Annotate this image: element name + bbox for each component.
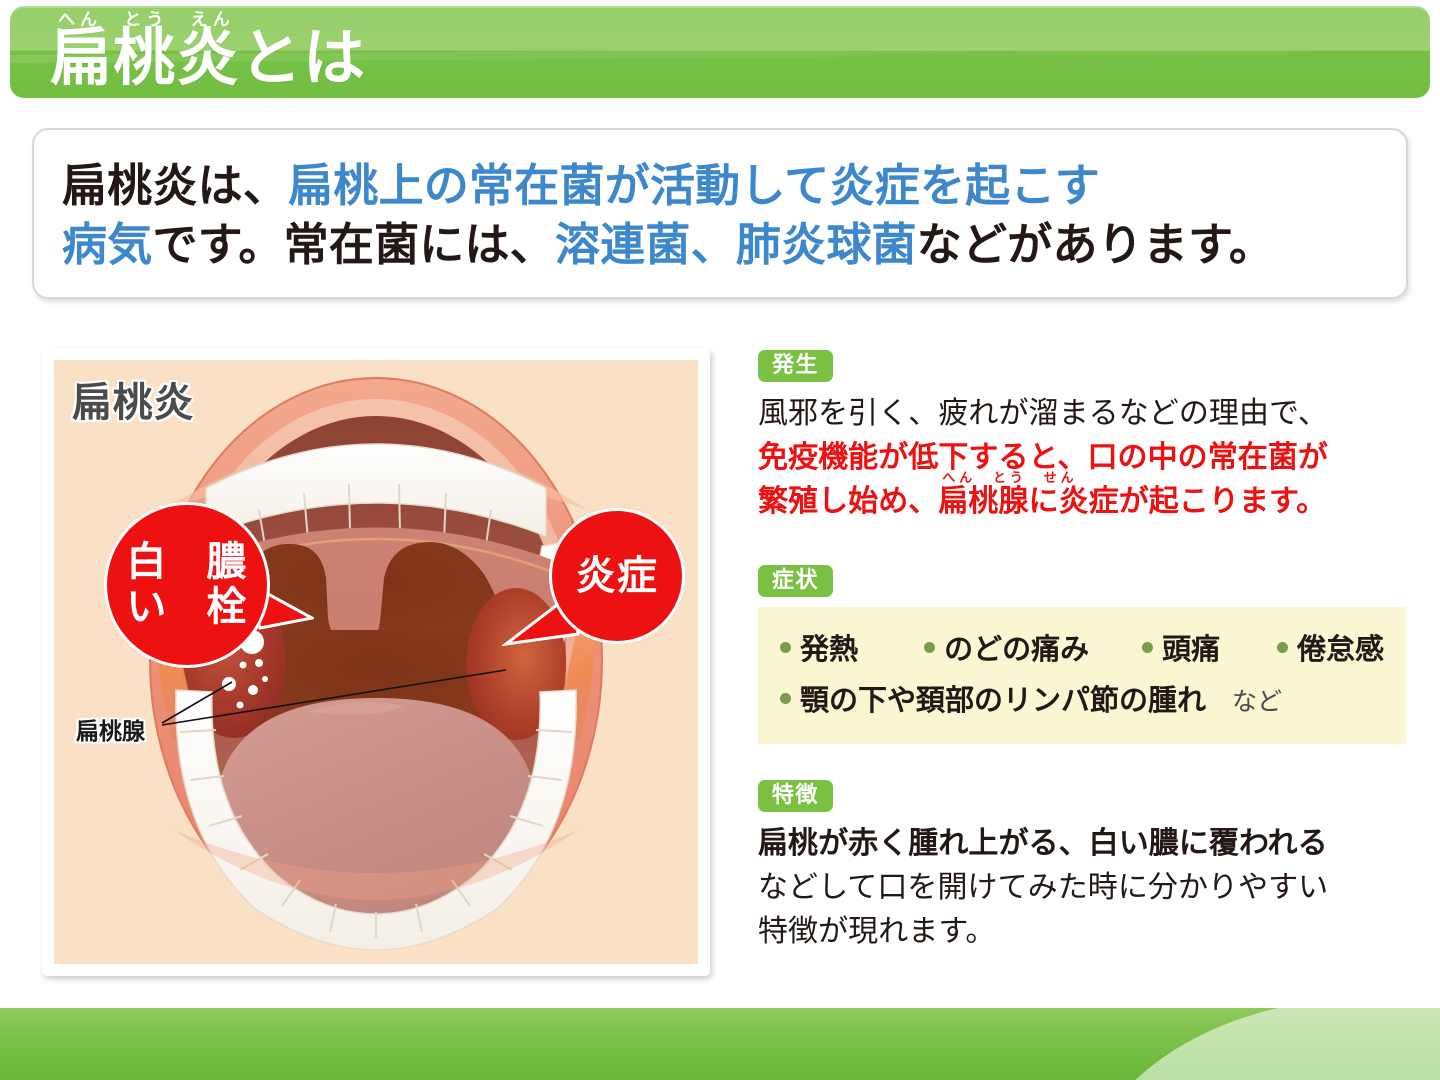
section-symptoms: 症状 発熱 のどの痛み 頭痛 倦怠感 顎の下や頚部のリンパ節の腫れ など <box>758 565 1408 744</box>
infographic-page: へん とう えん 扁桃炎とは 扁桃炎は、扁桃上の常在菌が活動して炎症を起こす 病… <box>0 0 1440 1080</box>
illustration-canvas: 扁桃炎 <box>54 360 698 964</box>
statement-text-plain-3: などがあります。 <box>917 218 1274 271</box>
symptom-row-1: 発熱 のどの痛み 頭痛 倦怠感 <box>780 626 1384 668</box>
info-column: 発生 風邪を引く、疲れが溜まるなどの理由で、 免疫機能が低下すると、口の中の常在… <box>758 350 1408 960</box>
occurrence-ruby-base: 扁桃腺 <box>938 484 1028 519</box>
section-badge-symptoms: 症状 <box>758 565 833 597</box>
statement-text-highlight-2: 病気 <box>62 218 152 271</box>
symptom-label-2: のどの痛み <box>944 626 1089 668</box>
bullet-icon <box>1142 642 1153 653</box>
section-badge-features: 特徴 <box>758 780 833 812</box>
callout-white-pus: 白い 膿栓 <box>104 502 270 668</box>
occurrence-line-1: 風邪を引く、疲れが溜まるなどの理由で、 <box>758 392 1408 436</box>
symptoms-etc-label: など <box>1232 682 1282 718</box>
statement-line-2: 病気です。常在菌には、溶連菌、肺炎球菌などがあります。 <box>62 215 1378 274</box>
features-body: 扁桃が赤く腫れ上がる、白い膿に覆われる などして口を開けてみた時に分かりやすい … <box>758 822 1408 954</box>
statement-box: 扁桃炎は、扁桃上の常在菌が活動して炎症を起こす 病気です。常在菌には、溶連菌、肺… <box>32 128 1408 299</box>
occurrence-line-3-a: 繁殖し始め、 <box>758 484 938 519</box>
features-line-1: 扁桃が赤く腫れ上がる、白い膿に覆われる <box>758 822 1408 866</box>
occurrence-line-3-c: に炎症が起こります。 <box>1029 484 1327 519</box>
symptoms-list-box: 発熱 のどの痛み 頭痛 倦怠感 顎の下や頚部のリンパ節の腫れ など <box>758 607 1406 744</box>
occurrence-line-2: 免疫機能が低下すると、口の中の常在菌が <box>758 436 1408 480</box>
features-line-2: などして口を開けてみた時に分かりやすい <box>758 866 1408 910</box>
illustration-card: 扁桃炎 <box>42 348 710 976</box>
callout-inflammation-label: 炎症 <box>576 554 658 599</box>
callout-pus-label: 白い <box>107 540 187 630</box>
occurrence-line-3: 繁殖し始め、へん とう せん扁桃腺に炎症が起こります。 <box>758 480 1408 524</box>
symptom-item-sore-throat: のどの痛み <box>924 626 1142 668</box>
page-header: へん とう えん 扁桃炎とは <box>10 6 1430 98</box>
page-title: 扁桃炎とは <box>50 27 366 89</box>
page-footer <box>0 1008 1440 1080</box>
symptom-row-2: 顎の下や頚部のリンパ節の腫れ など <box>780 677 1384 719</box>
section-occurrence: 発生 風邪を引く、疲れが溜まるなどの理由で、 免疫機能が低下すると、口の中の常在… <box>758 350 1408 525</box>
statement-text-highlight-3: 溶連菌、肺炎球菌 <box>555 218 917 271</box>
statement-text-highlight-1: 扁桃上の常在菌が活動して炎症を起こす <box>288 159 1100 212</box>
symptom-item-fatigue: 倦怠感 <box>1277 626 1384 668</box>
occurrence-body: 風邪を引く、疲れが溜まるなどの理由で、 免疫機能が低下すると、口の中の常在菌が … <box>758 392 1408 524</box>
occurrence-ruby-group: へん とう せん扁桃腺 <box>938 487 1028 517</box>
symptom-label-5: 顎の下や頚部のリンパ節の腫れ <box>800 677 1206 719</box>
symptom-item-lymph-swelling: 顎の下や頚部のリンパ節の腫れ <box>780 677 1206 719</box>
occurrence-ruby-text: へん とう せん <box>938 472 1028 485</box>
bullet-icon <box>780 642 791 653</box>
symptom-label-3: 頭痛 <box>1162 626 1220 668</box>
statement-text-plain-1: 扁桃炎は、 <box>62 159 288 212</box>
open-mouth-illustration <box>54 360 698 964</box>
bullet-icon <box>1277 642 1288 653</box>
symptom-item-headache: 頭痛 <box>1142 626 1277 668</box>
symptom-item-fever: 発熱 <box>780 626 924 668</box>
callout-pus-label-2: 膿栓 <box>187 540 267 630</box>
symptom-label-4: 倦怠感 <box>1297 626 1384 668</box>
tonsil-gland-label: 扁桃腺 <box>76 712 145 746</box>
callout-inflammation: 炎症 <box>549 508 685 644</box>
bullet-icon <box>780 693 791 704</box>
footer-decorative-swoosh <box>1080 1008 1440 1080</box>
symptom-label-1: 発熱 <box>800 626 858 668</box>
features-line-3: 特徴が現れます。 <box>758 910 1408 954</box>
illustration-label: 扁桃炎 <box>72 370 194 428</box>
bullet-icon <box>924 642 935 653</box>
header-title-group: へん とう えん 扁桃炎とは <box>50 12 366 89</box>
section-features: 特徴 扁桃が赤く腫れ上がる、白い膿に覆われる などして口を開けてみた時に分かりや… <box>758 780 1408 955</box>
section-badge-occurrence: 発生 <box>758 350 833 382</box>
statement-line-1: 扁桃炎は、扁桃上の常在菌が活動して炎症を起こす <box>62 156 1378 215</box>
statement-text-plain-2: です。常在菌には、 <box>152 218 555 271</box>
